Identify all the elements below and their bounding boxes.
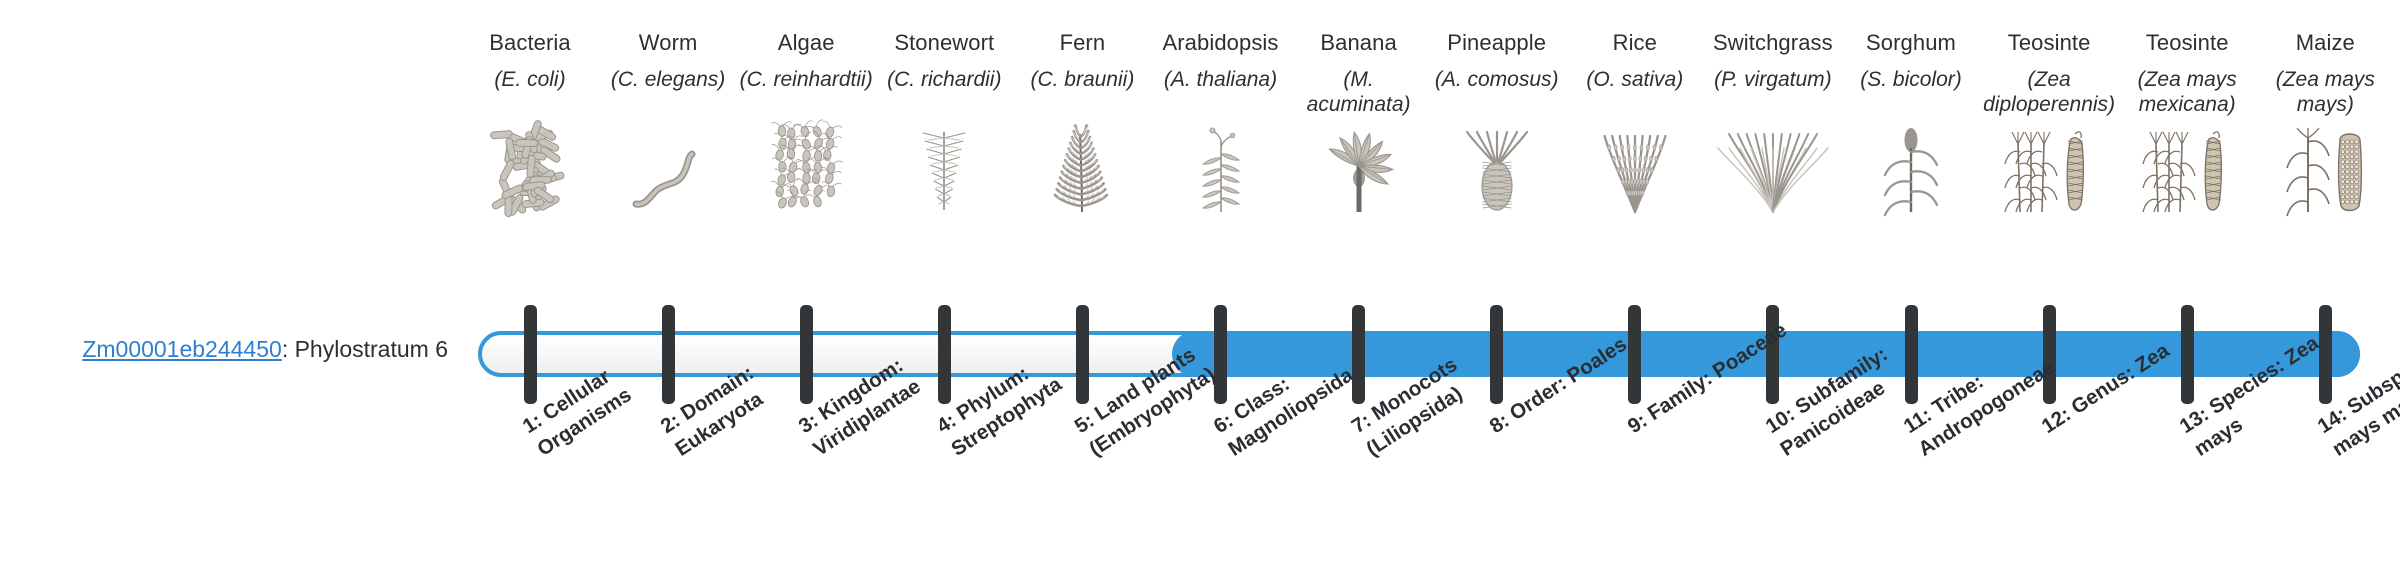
- species-scientific-name: (M. acuminata): [1290, 68, 1428, 118]
- species-column: Maize (Zea mays mays): [2256, 30, 2394, 117]
- species-column: Arabidopsis (A. thaliana): [1152, 30, 1290, 93]
- species-common-name: Teosinte: [1980, 30, 2118, 56]
- species-scientific-name: (Zea diploperennis): [1980, 68, 2118, 118]
- switchgrass-illustration: [1704, 126, 1842, 212]
- teosinte-mexicana-plant-and-ear-illustration: [2118, 126, 2256, 212]
- maize-plant-and-cob-illustration: [2256, 126, 2394, 212]
- species-column: Stonewort (C. richardii): [875, 30, 1013, 93]
- species-scientific-name: (E. coli): [461, 68, 599, 93]
- arabidopsis-plant-illustration: [1152, 126, 1290, 212]
- species-column: Sorghum (S. bicolor): [1842, 30, 1980, 93]
- gene-phylostratum-label: Zm00001eb244450: Phylostratum 6: [28, 336, 448, 363]
- species-scientific-name: (C. braunii): [1013, 68, 1151, 93]
- species-common-name: Banana: [1290, 30, 1428, 56]
- species-header-row: Bacteria (E. coli): [478, 30, 2360, 200]
- species-common-name: Algae: [737, 30, 875, 56]
- label-separator: :: [282, 336, 295, 362]
- fern-frond-illustration: [1013, 126, 1151, 212]
- species-column: Teosinte (Zea mays mexicana): [2118, 30, 2256, 117]
- species-column: Algae (C. reinhardtii): [737, 30, 875, 93]
- species-scientific-name: (C. elegans): [599, 68, 737, 93]
- species-common-name: Sorghum: [1842, 30, 1980, 56]
- species-scientific-name: (Zea mays mexicana): [2118, 68, 2256, 118]
- species-scientific-name: (C. richardii): [875, 68, 1013, 93]
- species-column: Banana (M. acuminata): [1290, 30, 1428, 117]
- banana-palm-illustration: [1290, 126, 1428, 212]
- species-common-name: Arabidopsis: [1152, 30, 1290, 56]
- species-scientific-name: (S. bicolor): [1842, 68, 1980, 93]
- species-column: Rice (O. sativa): [1566, 30, 1704, 93]
- species-common-name: Bacteria: [461, 30, 599, 56]
- species-scientific-name: (O. sativa): [1566, 68, 1704, 93]
- chlamydomonas-algae-illustration: [737, 126, 875, 212]
- phylostratum-timeline-figure: Zm00001eb244450: Phylostratum 6 Bacteria…: [0, 0, 2400, 580]
- rice-plant-illustration: [1566, 126, 1704, 212]
- stonewort-illustration: [875, 126, 1013, 212]
- bacteria-rods-illustration: [461, 126, 599, 212]
- species-common-name: Maize: [2256, 30, 2394, 56]
- pineapple-illustration: [1428, 126, 1566, 212]
- species-common-name: Rice: [1566, 30, 1704, 56]
- species-column: Switchgrass (P. virgatum): [1704, 30, 1842, 93]
- species-column: Bacteria (E. coli): [461, 30, 599, 93]
- phylostratum-text: Phylostratum 6: [295, 336, 448, 362]
- nematode-worm-illustration: [599, 126, 737, 212]
- species-common-name: Worm: [599, 30, 737, 56]
- species-scientific-name: (A. comosus): [1428, 68, 1566, 93]
- species-common-name: Teosinte: [2118, 30, 2256, 56]
- species-common-name: Pineapple: [1428, 30, 1566, 56]
- species-common-name: Stonewort: [875, 30, 1013, 56]
- species-scientific-name: (P. virgatum): [1704, 68, 1842, 93]
- species-common-name: Fern: [1013, 30, 1151, 56]
- species-scientific-name: (Zea mays mays): [2256, 68, 2394, 118]
- sorghum-plant-illustration: [1842, 126, 1980, 212]
- species-scientific-name: (A. thaliana): [1152, 68, 1290, 93]
- teosinte-plant-and-ear-illustration: [1980, 126, 2118, 212]
- gene-id-link[interactable]: Zm00001eb244450: [82, 336, 282, 362]
- species-column: Fern (C. braunii): [1013, 30, 1151, 93]
- species-column: Pineapple (A. comosus): [1428, 30, 1566, 93]
- species-column: Worm (C. elegans): [599, 30, 737, 93]
- species-scientific-name: (C. reinhardtii): [737, 68, 875, 93]
- timeline-tick: [524, 305, 537, 404]
- species-common-name: Switchgrass: [1704, 30, 1842, 56]
- species-column: Teosinte (Zea diploperennis): [1980, 30, 2118, 117]
